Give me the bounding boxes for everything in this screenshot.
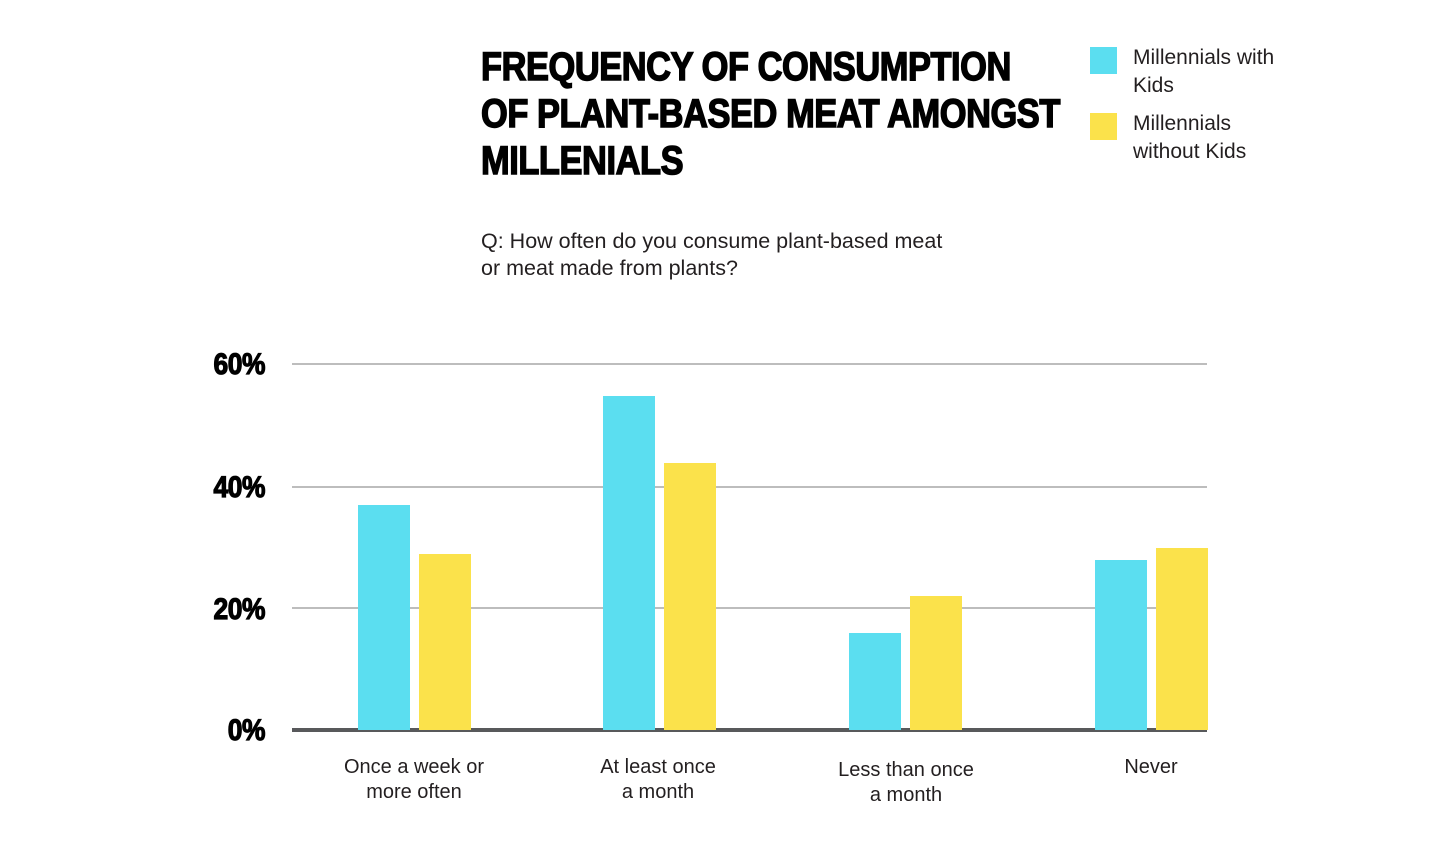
x-axis-label-at-least-once-a-month: At least once a month — [538, 755, 778, 805]
x-axis-label-never: Never — [1031, 755, 1271, 780]
bar-at-least-once-a-month-with-kids[interactable] — [603, 396, 655, 730]
bar-once-a-week-with-kids[interactable] — [358, 505, 410, 730]
bar-never-with-kids[interactable] — [1095, 560, 1147, 730]
x-axis-label-once-a-week: Once a week or more often — [294, 755, 534, 805]
bar-chart: 60% 40% 20% 0% Once a week or more often… — [0, 0, 1440, 851]
x-axis-label-less-than-once-line1: Less than once — [786, 758, 1026, 783]
bar-at-least-once-a-month-without-kids[interactable] — [664, 463, 716, 730]
bar-once-a-week-without-kids[interactable] — [419, 554, 471, 730]
x-axis-label-once-a-week-line2: more often — [294, 780, 534, 805]
x-axis-label-less-than-once-line2: a month — [786, 783, 1026, 808]
bar-less-than-once-a-month-without-kids[interactable] — [910, 596, 962, 730]
x-axis-label-once-a-week-line1: Once a week or — [294, 755, 534, 780]
x-axis-label-never-line1: Never — [1031, 755, 1271, 780]
x-axis-label-at-least-once-line1: At least once — [538, 755, 778, 780]
bar-less-than-once-a-month-with-kids[interactable] — [849, 633, 901, 730]
bar-never-without-kids[interactable] — [1156, 548, 1208, 730]
x-axis-label-less-than-once-a-month: Less than once a month — [786, 758, 1026, 808]
bars-layer — [0, 0, 1440, 730]
x-axis-label-at-least-once-line2: a month — [538, 780, 778, 805]
